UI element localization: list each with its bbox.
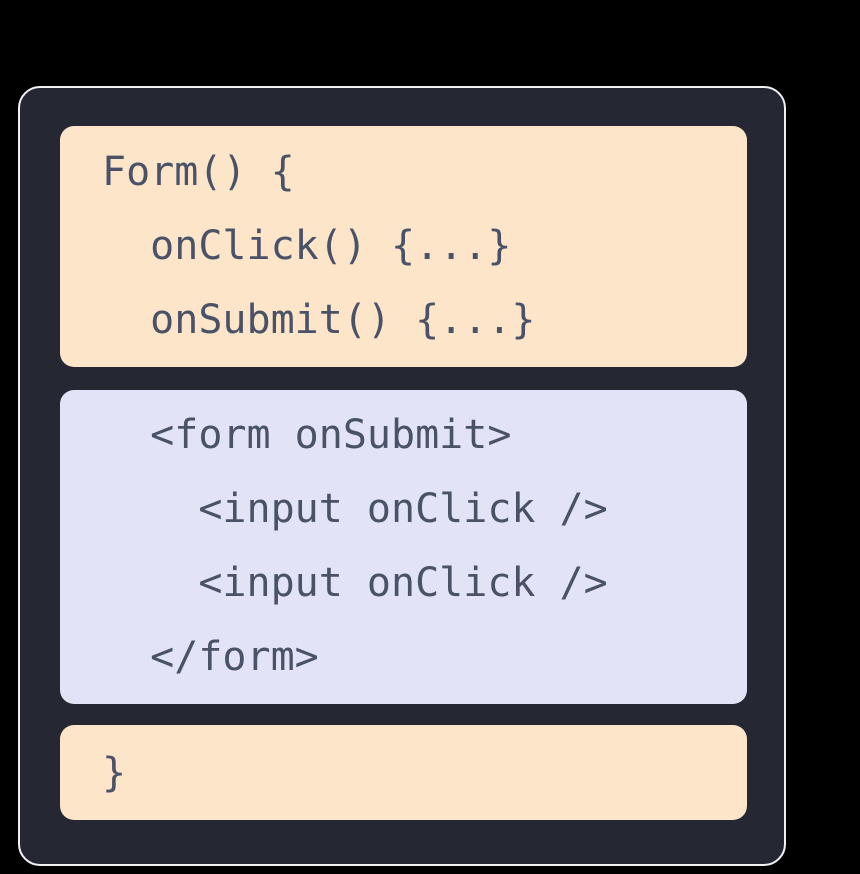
- markup-panel: <form onSubmit> <input onClick /> <input…: [60, 390, 747, 704]
- code-line-input-second: <input onClick />: [60, 546, 747, 620]
- component-scope-panel: Form() { onClick() {...} onSubmit() {...…: [60, 126, 747, 367]
- code-line-form-open: Form() {: [60, 135, 747, 209]
- code-line-form-tag-open: <form onSubmit>: [60, 398, 747, 472]
- code-card: Form() { onClick() {...} onSubmit() {...…: [18, 86, 786, 866]
- code-line-input-first: <input onClick />: [60, 472, 747, 546]
- code-line-onsubmit-handler: onSubmit() {...}: [60, 283, 747, 357]
- code-line-onclick-handler: onClick() {...}: [60, 209, 747, 283]
- code-line-closing-brace: }: [60, 734, 747, 812]
- code-line-form-tag-close: </form>: [60, 620, 747, 694]
- closing-scope-panel: }: [60, 725, 747, 820]
